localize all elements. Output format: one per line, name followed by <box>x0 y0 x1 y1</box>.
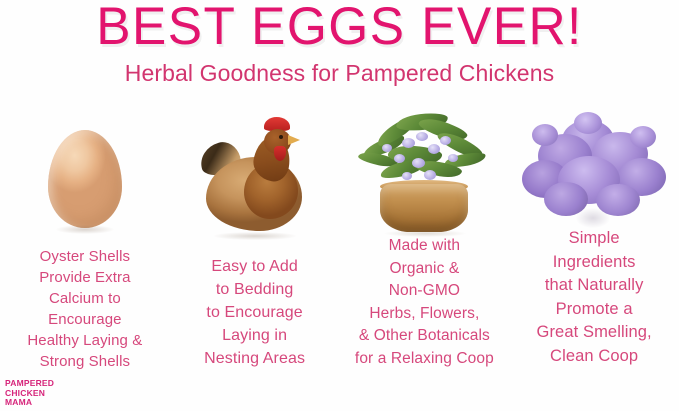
hen-shadow <box>214 232 296 240</box>
lavender-cluster <box>630 126 656 148</box>
feature-line: Encourage <box>4 309 166 330</box>
feature-line: for a Relaxing Coop <box>344 348 506 371</box>
illustration-wrapper <box>0 98 170 238</box>
feature-text-bedding: Easy to Add to Bedding to Encourage Layi… <box>170 255 340 370</box>
page-subtitle: Herbal Goodness for Pampered Chickens <box>0 58 679 88</box>
feature-line: Clean Coop <box>513 345 675 369</box>
egg-shell-shape <box>48 130 122 228</box>
lavender-shadow <box>576 208 610 228</box>
feature-text-clean-coop: Simple Ingredients that Naturally Promot… <box>509 227 679 368</box>
brown-egg-icon <box>48 130 122 230</box>
feature-line: to Encourage <box>174 301 336 324</box>
feature-line: Herbs, Flowers, <box>344 303 506 326</box>
brown-hen-icon <box>200 113 310 238</box>
feature-line: Healthy Laying & <box>4 330 166 351</box>
feature-line: Oyster Shells <box>4 246 166 267</box>
lavender-flowers-icon <box>518 112 670 238</box>
page-title: BEST EGGS EVER! <box>10 0 669 56</box>
feature-line: Easy to Add <box>174 255 336 278</box>
brand-logo-line-3: MAMA <box>5 398 125 408</box>
feature-line: Simple <box>513 227 675 251</box>
hen-wattle <box>274 146 286 161</box>
feature-line: that Naturally <box>513 274 675 298</box>
lavender-cluster <box>574 112 602 134</box>
illustration-wrapper <box>170 98 340 238</box>
feature-column-ingredients: Made with Organic & Non-GMO Herbs, Flowe… <box>340 98 510 378</box>
feature-line: Calcium to <box>4 288 166 309</box>
feature-line: Strong Shells <box>4 351 166 372</box>
feature-line: to Bedding <box>174 278 336 301</box>
herb-flower <box>402 172 412 180</box>
feature-line: Great Smelling, <box>513 321 675 345</box>
feature-line: Provide Extra <box>4 267 166 288</box>
illustration-wrapper <box>340 98 510 238</box>
hen-eye <box>279 135 283 139</box>
feature-line: & Other Botanicals <box>344 325 506 348</box>
lavender-cluster <box>532 124 558 146</box>
wooden-bowl-herbs-icon <box>358 110 490 238</box>
feature-columns: Oyster Shells Provide Extra Calcium to E… <box>0 98 679 378</box>
feature-line: Promote a <box>513 298 675 322</box>
feature-column-oyster-shells: Oyster Shells Provide Extra Calcium to E… <box>0 98 170 378</box>
feature-line: Laying in <box>174 324 336 347</box>
feature-line: Non-GMO <box>344 280 506 303</box>
hen-beak <box>288 135 300 145</box>
poster-canvas: BEST EGGS EVER! Herbal Goodness for Pamp… <box>0 0 679 411</box>
feature-line: Ingredients <box>513 251 675 275</box>
herb-flower <box>424 170 436 180</box>
herb-flower <box>416 132 428 141</box>
feature-line: Organic & <box>344 258 506 281</box>
illustration-wrapper <box>509 98 679 238</box>
feature-column-bedding: Easy to Add to Bedding to Encourage Layi… <box>170 98 340 378</box>
feature-line: Made with <box>344 235 506 258</box>
poster-header: BEST EGGS EVER! Herbal Goodness for Pamp… <box>0 0 679 98</box>
feature-text-ingredients: Made with Organic & Non-GMO Herbs, Flowe… <box>340 235 510 370</box>
brand-logo: PAMPERED CHICKEN MAMA <box>5 379 125 408</box>
bowl-body <box>380 184 468 232</box>
egg-shadow <box>56 225 114 234</box>
feature-text-oyster-shells: Oyster Shells Provide Extra Calcium to E… <box>0 246 170 372</box>
feature-column-clean-coop: Simple Ingredients that Naturally Promot… <box>509 98 679 378</box>
feature-line: Nesting Areas <box>174 347 336 370</box>
